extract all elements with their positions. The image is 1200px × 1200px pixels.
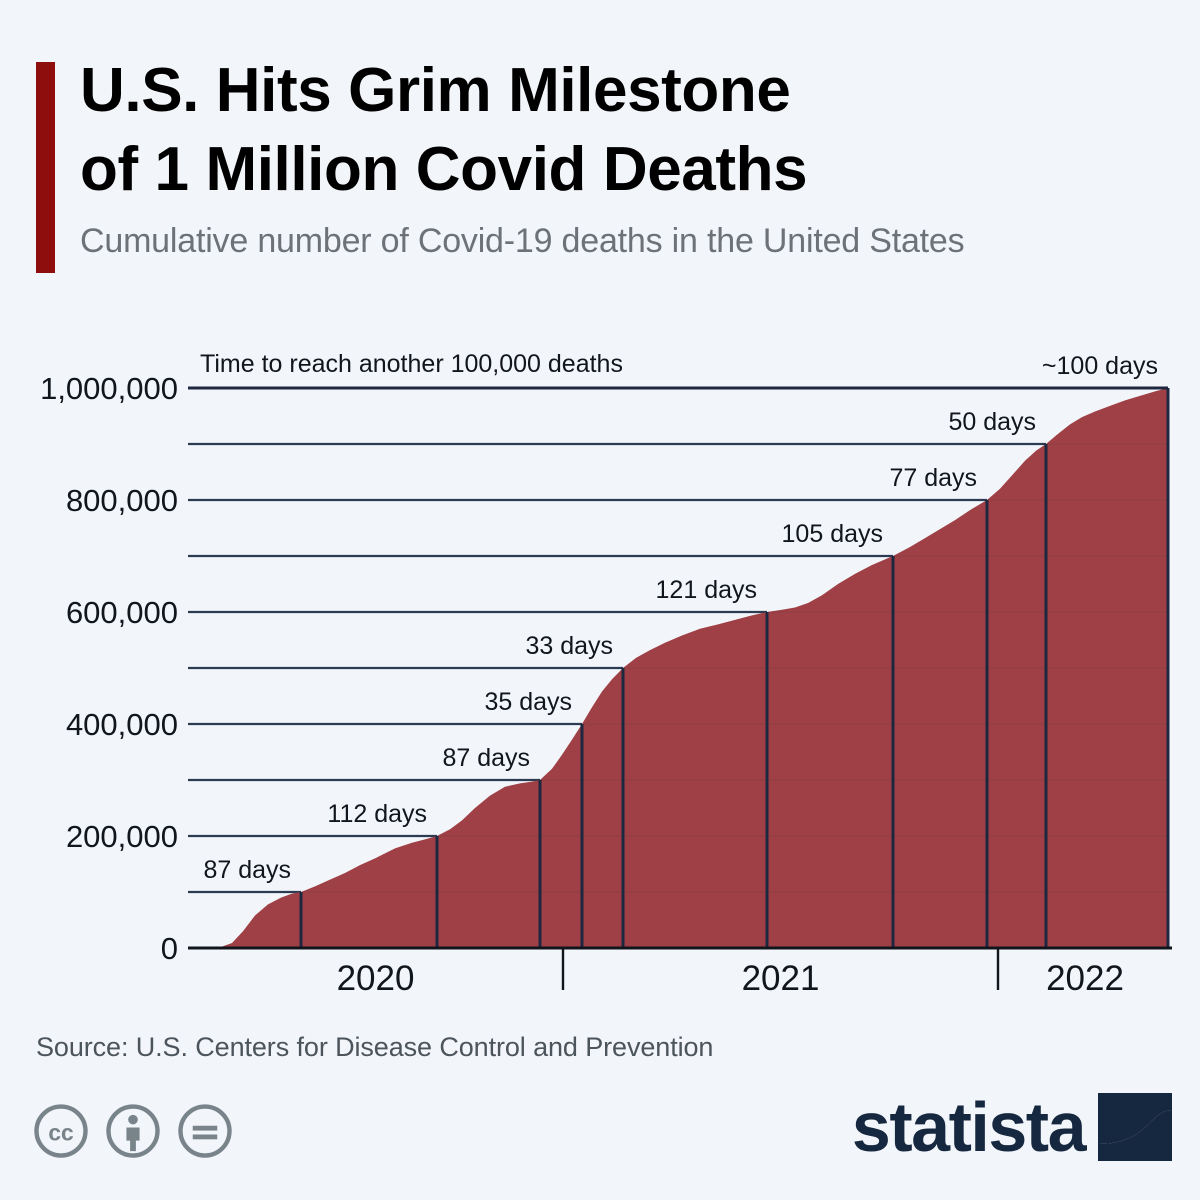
title-accent-bar — [36, 62, 55, 273]
chart-container: 0200,000400,000600,000800,0001,000,000 8… — [0, 340, 1200, 1000]
statista-s-curve-mark — [1098, 1093, 1172, 1161]
svg-text:cc: cc — [48, 1120, 73, 1146]
page-subtitle: Cumulative number of Covid-19 deaths in … — [80, 221, 1180, 262]
y-axis-tick-label: 200,000 — [66, 819, 178, 854]
x-axis-labels: 202020212022 — [337, 948, 1124, 998]
milestone-label: 105 days — [782, 520, 883, 548]
y-axis-tick-label: 800,000 — [66, 483, 178, 518]
y-axis-labels: 0200,000400,000600,000800,0001,000,000 — [40, 371, 178, 966]
x-axis-tick-label: 2021 — [742, 959, 820, 998]
milestone-label: 33 days — [525, 632, 613, 660]
x-axis-tick-label: 2022 — [1046, 959, 1124, 998]
page-title: U.S. Hits Grim Milestone of 1 Million Co… — [80, 52, 1180, 209]
source-note: Source: U.S. Centers for Disease Control… — [36, 1032, 713, 1063]
y-axis-tick-label: 400,000 — [66, 707, 178, 742]
milestone-label: 112 days — [327, 800, 427, 828]
cc-icon[interactable]: cc — [33, 1103, 89, 1159]
milestone-label: 77 days — [889, 464, 977, 492]
milestone-label: 87 days — [442, 744, 530, 772]
title-block: U.S. Hits Grim Milestone of 1 Million Co… — [80, 52, 1180, 262]
milestone-label: 50 days — [948, 408, 1036, 436]
milestone-label: 35 days — [484, 688, 572, 716]
no-derivatives-equals-icon[interactable] — [177, 1103, 233, 1159]
legend-note: Time to reach another 100,000 deaths — [200, 350, 623, 378]
creative-commons-icons: cc — [33, 1103, 233, 1159]
statista-wordmark: statista — [852, 1092, 1085, 1162]
milestone-label: 87 days — [203, 856, 291, 884]
y-axis-tick-label: 0 — [161, 931, 178, 966]
infographic-header: U.S. Hits Grim Milestone of 1 Million Co… — [0, 0, 1200, 300]
milestone-label: ~100 days — [1042, 352, 1158, 380]
x-axis-tick-label: 2020 — [337, 959, 415, 998]
attribution-person-icon[interactable] — [105, 1103, 161, 1159]
statista-logo: statista — [852, 1092, 1172, 1162]
cumulative-deaths-area-chart: 0200,000400,000600,000800,0001,000,000 8… — [0, 340, 1200, 1000]
y-axis-tick-label: 600,000 — [66, 595, 178, 630]
milestone-label: 121 days — [656, 576, 757, 604]
y-axis-tick-label: 1,000,000 — [40, 371, 178, 406]
